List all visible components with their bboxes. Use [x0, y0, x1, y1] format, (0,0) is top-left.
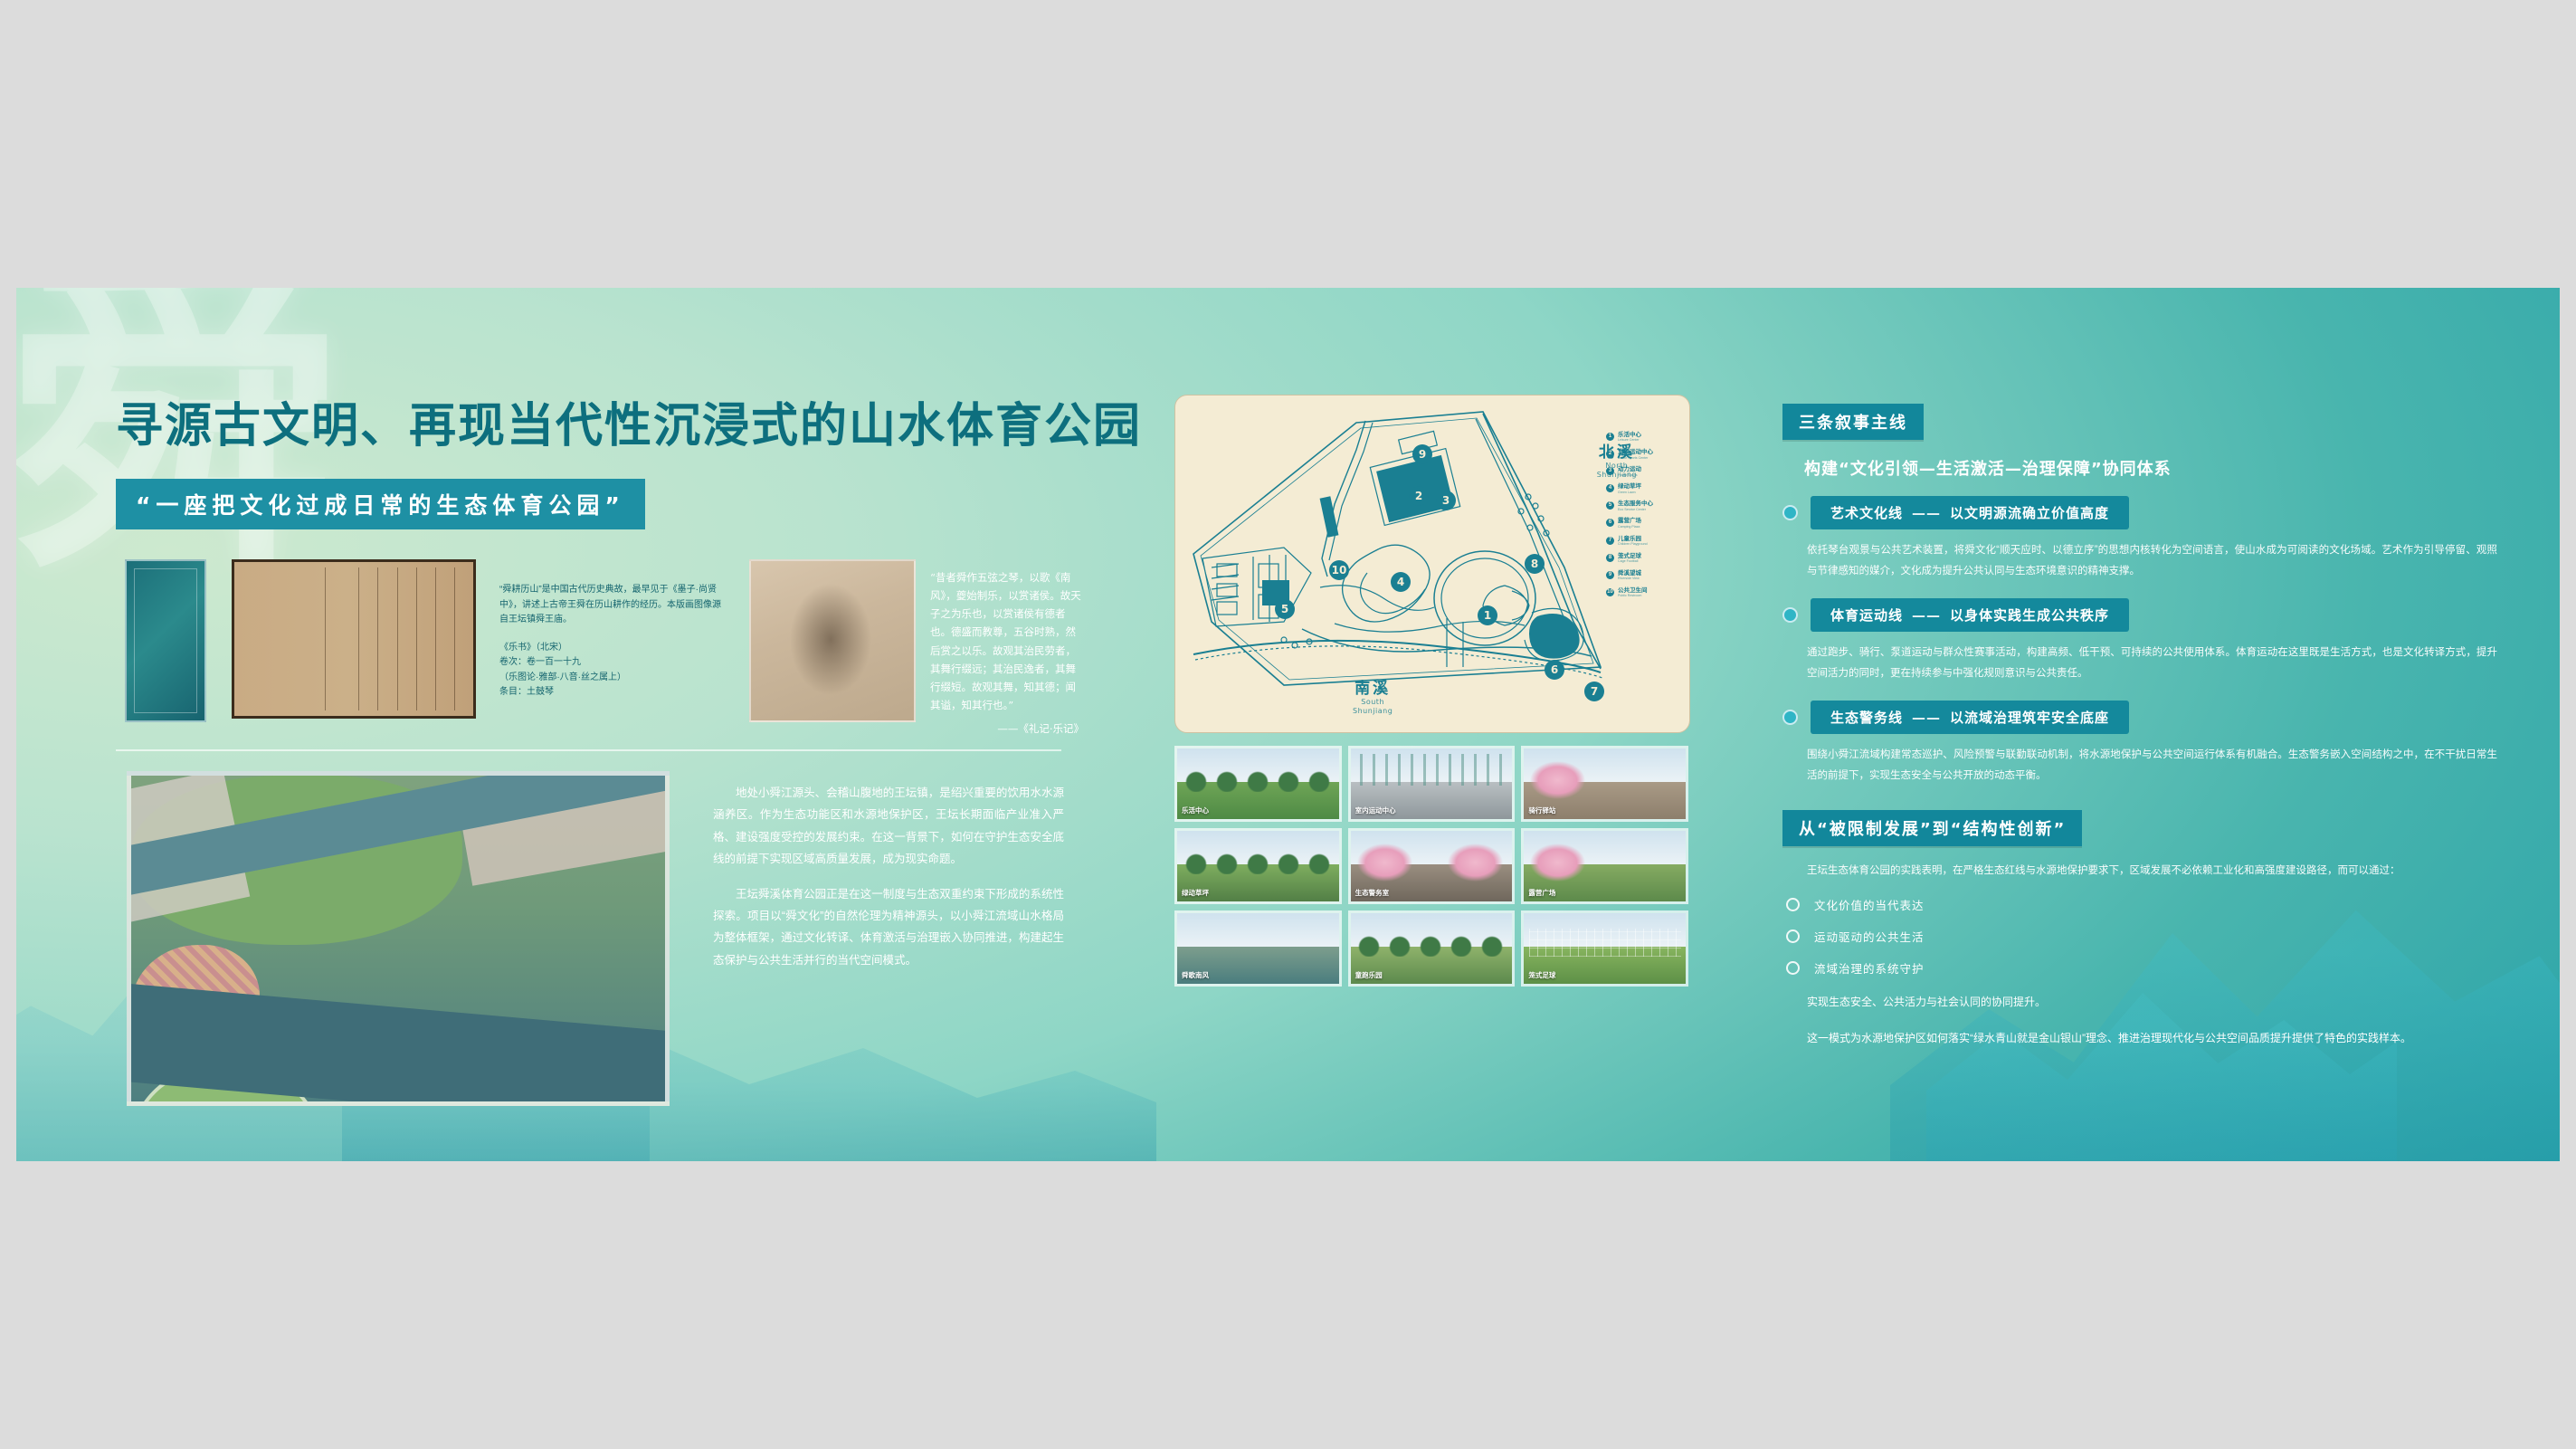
section-divider — [116, 749, 1061, 751]
legend-number: 5 — [1606, 501, 1614, 510]
narrative-line-1: 艺术文化线——以文明源流确立价值高度依托琴台观景与公共艺术装置，将舜文化“顺天应… — [1782, 496, 2497, 582]
book-cover-image — [125, 559, 206, 722]
legend-label: 生态服务中心Eco Service Center — [1618, 500, 1653, 511]
photo-caption: 生态警务室 — [1355, 888, 1390, 898]
legend-label-en: Power Sports — [1618, 473, 1641, 477]
dash-separator: —— — [1912, 607, 1941, 624]
legend-number: 9 — [1606, 571, 1614, 579]
bullet-dot-icon — [1782, 710, 1798, 725]
conclusion-item-label: 文化价值的当代表达 — [1814, 896, 1925, 913]
photo-caption: 室内运动中心 — [1355, 806, 1396, 815]
legend-label-en: Riverside View — [1618, 577, 1641, 580]
render-photo-3[interactable]: 骑行驿站 — [1521, 746, 1688, 822]
narrative-line-header: 生态警务线——以流域治理筑牢安全底座 — [1782, 701, 2497, 734]
map-marker-4[interactable]: 4 — [1391, 572, 1411, 592]
narrative-section-chip: 三条叙事主线 — [1782, 404, 1924, 440]
bullet-dot-icon — [1782, 607, 1798, 623]
ancient-text-page-image — [232, 559, 476, 719]
narrative-line-body: 通过跑步、骑行、泵道运动与群众性赛事活动，构建高频、低干预、可持续的公共使用体系… — [1807, 643, 2497, 684]
caption-main-text: “舜耕历山”是中国古代历史典故，最早见于《墨子·尚贤中》，讲述上古帝王舜在历山耕… — [499, 583, 726, 628]
render-photo-6[interactable]: 露营广场 — [1521, 828, 1688, 904]
legend-label: 绿动草坪Green Lawn — [1618, 483, 1641, 494]
map-marker-1[interactable]: 1 — [1478, 605, 1497, 625]
hollow-bullet-icon — [1786, 898, 1800, 911]
park-master-plan-map[interactable]: 北溪 North Shunjiang 南溪 South Shunjiang 1乐… — [1174, 395, 1690, 733]
legend-label: 儿童乐园Children Playground — [1618, 536, 1648, 547]
conclusion-item-1: 文化价值的当代表达 — [1786, 896, 2497, 913]
quote-text: “昔者舜作五弦之琴，以歌《南风》，夔始制乐，以赏诸侯。故天子之为乐也，以赏诸侯有… — [930, 568, 1084, 714]
tree-row-decor — [1181, 849, 1336, 874]
map-legend-item[interactable]: 8笼式足球Cage Football — [1606, 553, 1675, 564]
narrative-line-pill[interactable]: 艺术文化线——以文明源流确立价值高度 — [1811, 496, 2129, 529]
hollow-bullet-icon — [1786, 929, 1800, 943]
intro-paragraph-1: 地处小舜江源头、会稽山腹地的王坛镇，是绍兴重要的饮用水水源涵养区。作为生态功能区… — [713, 782, 1064, 871]
narrative-line-name: 生态警务线 — [1830, 710, 1903, 726]
historic-caption: “舜耕历山”是中国古代历史典故，最早见于《墨子·尚贤中》，讲述上古帝王舜在历山耕… — [499, 583, 726, 701]
map-legend-item[interactable]: 5生态服务中心Eco Service Center — [1606, 500, 1675, 511]
map-marker-9[interactable]: 9 — [1412, 444, 1432, 464]
left-column: 寻源古文明、再现当代性沉浸式的山水体育公园 “一座把文化过成日常的生态体育公园”… — [116, 387, 1075, 529]
narrative-line-tag: 以文明源流确立价值高度 — [1950, 505, 2109, 521]
render-photo-7[interactable]: 舜歌南风 — [1174, 910, 1342, 987]
classical-quote: “昔者舜作五弦之琴，以歌《南风》，夔始制乐，以赏诸侯。故天子之为乐也，以赏诸侯有… — [930, 568, 1084, 738]
bullet-dot-icon — [1782, 505, 1798, 520]
narrative-line-2: 体育运动线——以身体实践生成公共秩序通过跑步、骑行、泵道运动与群众性赛事活动，构… — [1782, 598, 2497, 684]
photo-caption: 绿动草坪 — [1182, 888, 1209, 898]
legend-label-en: Camping Plaza — [1618, 525, 1641, 529]
conclusion-lead: 王坛生态体育公园的实践表明，在严格生态红线与水源地保护要求下，区域发展不必依赖工… — [1807, 861, 2497, 882]
conclusion-item-label: 运动驱动的公共生活 — [1814, 928, 1925, 945]
photo-caption: 笼式足球 — [1528, 970, 1555, 980]
legend-label-en: Eco Service Center — [1618, 508, 1653, 511]
map-label-south: 南溪 South Shunjiang — [1353, 675, 1393, 716]
narrative-line-tag: 以身体实践生成公共秩序 — [1950, 607, 2109, 624]
narrative-line-name: 艺术文化线 — [1830, 505, 1903, 521]
legend-label-en: Cage Football — [1618, 559, 1641, 563]
narrative-line-name: 体育运动线 — [1830, 607, 1903, 624]
narrative-line-3: 生态警务线——以流域治理筑牢安全底座围绕小舜江流域构建常态巡护、风险预警与联勤联… — [1782, 701, 2497, 786]
narrative-heading: 构建“文化引领—生活激活—治理保障”协同体系 — [1804, 456, 2497, 480]
legend-number: 4 — [1606, 484, 1614, 492]
render-photo-2[interactable]: 室内运动中心 — [1348, 746, 1516, 822]
legend-label-en: Children Playground — [1618, 542, 1648, 546]
narrative-line-body: 围绕小舜江流域构建常态巡护、风险预警与联勤联动机制，将水源地保护与公共空间运行体… — [1807, 745, 2497, 786]
legend-label-en: Indoor Sports Center — [1618, 456, 1653, 460]
map-legend-item[interactable]: 3动力运动Power Sports — [1606, 466, 1675, 477]
conclusion-item-3: 流域治理的系统守护 — [1786, 959, 2497, 977]
map-legend-item[interactable]: 6露营广场Camping Plaza — [1606, 518, 1675, 529]
conclusion-section-chip: 从“被限制发展”到“结构性创新” — [1782, 810, 2082, 846]
source-entry: 条目：土鼓琴 — [499, 685, 726, 701]
narrative-line-tag: 以流域治理筑牢安全底座 — [1950, 710, 2109, 726]
tree-row-decor — [1354, 931, 1509, 957]
map-marker-10[interactable]: 10 — [1329, 560, 1349, 580]
quote-source: ——《礼记·乐记》 — [930, 720, 1084, 738]
aerial-render-image — [127, 771, 670, 1106]
narrative-line-header: 艺术文化线——以文明源流确立价值高度 — [1782, 496, 2497, 529]
legend-number: 1 — [1606, 433, 1614, 441]
conclusion-result: 实现生态安全、公共活力与社会认同的协同提升。 — [1807, 991, 2497, 1013]
narrative-line-list: 艺术文化线——以文明源流确立价值高度依托琴台观景与公共艺术装置，将舜文化“顺天应… — [1782, 496, 2497, 786]
map-legend-item[interactable]: 4绿动草坪Green Lawn — [1606, 483, 1675, 494]
conclusion-item-2: 运动驱动的公共生活 — [1786, 928, 2497, 945]
photo-caption: 乐活中心 — [1182, 806, 1209, 815]
legend-number: 10 — [1606, 588, 1614, 596]
photo-caption: 骑行驿站 — [1528, 806, 1555, 815]
conclusion-section: 从“被限制发展”到“结构性创新” 王坛生态体育公园的实践表明，在严格生态红线与水… — [1782, 810, 2497, 1049]
legend-number: 6 — [1606, 519, 1614, 527]
intro-body-text: 地处小舜江源头、会稽山腹地的王坛镇，是绍兴重要的饮用水水源涵养区。作为生态功能区… — [713, 782, 1064, 984]
map-marker-3[interactable]: 3 — [1436, 491, 1456, 510]
legend-label-en: Leisure Center — [1618, 438, 1641, 442]
map-legend-item[interactable]: 2室内运动中心Indoor Sports Center — [1606, 449, 1675, 460]
photo-caption: 露营广场 — [1528, 888, 1555, 898]
source-title: 《乐书》（北宋） — [499, 641, 726, 656]
conclusion-closing: 这一模式为水源地保护区如何落实“绿水青山就是金山银山”理念、推进治理现代化与公共… — [1807, 1027, 2497, 1049]
narrative-line-header: 体育运动线——以身体实践生成公共秩序 — [1782, 598, 2497, 632]
narrative-line-pill[interactable]: 生态警务线——以流域治理筑牢安全底座 — [1811, 701, 2129, 734]
source-chapter: （乐图论·雅部·八音·丝之属上） — [499, 671, 726, 686]
render-photo-9[interactable]: 笼式足球 — [1521, 910, 1688, 987]
legend-label-en: Green Lawn — [1618, 491, 1641, 494]
map-marker-7[interactable]: 7 — [1584, 682, 1604, 701]
middle-column: 北溪 North Shunjiang 南溪 South Shunjiang 1乐… — [1174, 395, 1688, 733]
legend-label: 室内运动中心Indoor Sports Center — [1618, 449, 1653, 460]
hollow-bullet-icon — [1786, 961, 1800, 975]
legend-number: 2 — [1606, 450, 1614, 458]
conclusion-item-label: 流域治理的系统守护 — [1814, 959, 1925, 977]
map-legend-item[interactable]: 1乐活中心Leisure Center — [1606, 432, 1675, 443]
historic-reference-row: “舜耕历山”是中国古代历史典故，最早见于《墨子·尚贤中》，讲述上古帝王舜在历山耕… — [116, 559, 1075, 731]
map-legend-item[interactable]: 10公共卫生间Public Restroom — [1606, 587, 1675, 598]
blossom-tree-decor-left — [1357, 844, 1412, 882]
legend-label: 动力运动Power Sports — [1618, 466, 1641, 477]
map-marker-5[interactable]: 5 — [1275, 599, 1295, 619]
conclusion-item-list: 文化价值的当代表达运动驱动的公共生活流域治理的系统守护 — [1786, 896, 2497, 977]
blossom-tree-decor — [1530, 761, 1585, 799]
page-subtitle: “一座把文化过成日常的生态体育公园” — [116, 479, 645, 529]
narrative-line-pill[interactable]: 体育运动线——以身体实践生成公共秩序 — [1811, 598, 2129, 632]
render-photo-1[interactable]: 乐活中心 — [1174, 746, 1342, 822]
legend-label: 舜溪望城Riverside View — [1618, 570, 1641, 581]
legend-label: 乐活中心Leisure Center — [1618, 432, 1641, 443]
legend-number: 7 — [1606, 537, 1614, 545]
render-photo-8[interactable]: 童跑乐园 — [1348, 910, 1516, 987]
narrative-line-body: 依托琴台观景与公共艺术装置，将舜文化“顺天应时、以德立序”的思想内核转化为空间语… — [1807, 540, 2497, 582]
render-photo-4[interactable]: 绿动草坪 — [1174, 828, 1342, 904]
map-marker-6[interactable]: 6 — [1545, 660, 1564, 680]
blossom-tree-decor-right — [1448, 844, 1503, 882]
shun-painting-image — [749, 559, 916, 722]
map-legend-item[interactable]: 9舜溪望城Riverside View — [1606, 570, 1675, 581]
tree-row-decor — [1181, 767, 1336, 792]
blossom-tree-decor — [1530, 844, 1585, 882]
map-legend-item[interactable]: 7儿童乐园Children Playground — [1606, 536, 1675, 547]
dash-separator: —— — [1912, 710, 1941, 726]
legend-label-en: Public Restroom — [1618, 594, 1648, 597]
photo-sky — [1177, 913, 1339, 950]
render-gallery-grid: 乐活中心室内运动中心骑行驿站绿动草坪生态警务室露营广场舜歌南风童跑乐园笼式足球 — [1174, 746, 1688, 987]
legend-label: 露营广场Camping Plaza — [1618, 518, 1641, 529]
fence-net-decor — [1529, 929, 1681, 957]
render-photo-5[interactable]: 生态警务室 — [1348, 828, 1516, 904]
dash-separator: —— — [1912, 505, 1941, 521]
poster-canvas: 舜 寻源古文明、再现当代性沉浸式的山水体育公园 “一座把文化过成日常的生态体育公… — [16, 288, 2560, 1161]
legend-number: 3 — [1606, 467, 1614, 475]
right-column: 三条叙事主线 构建“文化引领—生活激活—治理保障”协同体系 艺术文化线——以文明… — [1782, 404, 2497, 1049]
canopy-structure-decor — [1360, 754, 1502, 785]
map-marker-2[interactable]: 2 — [1409, 486, 1429, 506]
map-marker-8[interactable]: 8 — [1525, 554, 1545, 574]
page-title: 寻源古文明、再现当代性沉浸式的山水体育公园 — [116, 387, 1075, 455]
legend-label: 公共卫生间Public Restroom — [1618, 587, 1648, 598]
source-volume: 卷次：卷一百一十九 — [499, 655, 726, 671]
legend-label: 笼式足球Cage Football — [1618, 553, 1641, 564]
map-legend: 1乐活中心Leisure Center2室内运动中心Indoor Sports … — [1606, 432, 1675, 605]
photo-caption: 童跑乐园 — [1355, 970, 1383, 980]
legend-number: 8 — [1606, 554, 1614, 562]
photo-caption: 舜歌南风 — [1182, 970, 1209, 980]
intro-paragraph-2: 王坛舜溪体育公园正是在这一制度与生态双重约束下形成的系统性探索。项目以“舜文化”… — [713, 883, 1064, 972]
